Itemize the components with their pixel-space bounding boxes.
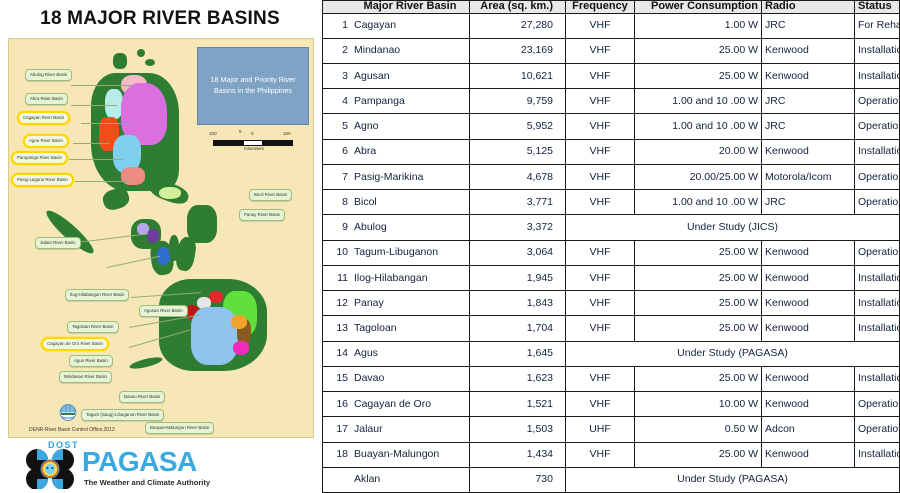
map-label-pasig-laguna[interactable]: Pasig-Laguna River Basin bbox=[11, 173, 74, 187]
leader-line bbox=[75, 181, 131, 182]
map-label-abulog[interactable]: Abulog River Basin bbox=[25, 69, 72, 81]
cell-basin-name: Cagayan de Oro bbox=[351, 392, 470, 417]
cell-frequency: VHF bbox=[566, 64, 635, 89]
table-header-row: Major River Basin Area (sq. km.) Frequen… bbox=[323, 1, 900, 14]
table-row[interactable]: 14Agus1,645Under Study (PAGASA) bbox=[323, 341, 900, 366]
river-basin-table: Major River Basin Area (sq. km.) Frequen… bbox=[322, 0, 900, 493]
cell-row-number bbox=[323, 467, 352, 492]
table-row[interactable]: 13Tagoloan1,704VHF25.00 WKenwoodInstalla… bbox=[323, 316, 900, 341]
cell-power-consumption: 1.00 and 10 .00 W bbox=[635, 190, 762, 215]
cell-area: 3,064 bbox=[470, 240, 566, 265]
cell-power-consumption: 25.00 W bbox=[635, 38, 762, 63]
cell-basin-name: Pasig-Marikina bbox=[351, 164, 470, 189]
cell-frequency: VHF bbox=[566, 38, 635, 63]
cell-basin-name: Tagoloan bbox=[351, 316, 470, 341]
cell-area: 5,952 bbox=[470, 114, 566, 139]
map-label-bicol[interactable]: Bicol River Basin bbox=[249, 189, 292, 201]
cell-radio: JRC bbox=[762, 13, 855, 38]
cell-area: 1,704 bbox=[470, 316, 566, 341]
cell-radio: Kenwood bbox=[762, 64, 855, 89]
cell-basin-name: Abra bbox=[351, 139, 470, 164]
cell-row-number: 7 bbox=[323, 164, 352, 189]
table-row[interactable]: Aklan730Under Study (PAGASA) bbox=[323, 467, 900, 492]
cell-basin-name: Bicol bbox=[351, 190, 470, 215]
cell-status: Installation on-going bbox=[855, 291, 900, 316]
table-row[interactable]: 7Pasig-Marikina4,678VHF20.00/25.00 WMoto… bbox=[323, 164, 900, 189]
cell-radio: Kenwood bbox=[762, 316, 855, 341]
cell-basin-name: Cagayan bbox=[351, 13, 470, 38]
cell-power-consumption: 25.00 W bbox=[635, 291, 762, 316]
pagasa-tagline: The Weather and Climate Authority bbox=[84, 478, 210, 487]
map-legend-text: 18 Major and Priority River Basins in th… bbox=[202, 75, 304, 97]
cell-status: Installation done bbox=[855, 139, 900, 164]
cell-frequency: VHF bbox=[566, 139, 635, 164]
cell-status: Installation done bbox=[855, 366, 900, 391]
cell-area: 1,434 bbox=[470, 442, 566, 467]
cell-status-note: Under Study (PAGASA) bbox=[566, 467, 900, 492]
cell-area: 5,125 bbox=[470, 139, 566, 164]
basin-bicol bbox=[159, 187, 181, 199]
cell-frequency: UHF bbox=[566, 417, 635, 442]
cell-area: 1,945 bbox=[470, 265, 566, 290]
cell-row-number: 6 bbox=[323, 139, 352, 164]
table-row[interactable]: 16Cagayan de Oro1,521VHF10.00 WKenwoodOp… bbox=[323, 392, 900, 417]
map-label-tagoloan[interactable]: Tagoloan River Basin bbox=[67, 321, 119, 333]
map-label-abra[interactable]: Abra River Basin bbox=[25, 93, 68, 105]
cell-radio: Motorola/Icom bbox=[762, 164, 855, 189]
cell-frequency: VHF bbox=[566, 392, 635, 417]
basin-davao bbox=[231, 315, 247, 329]
cell-area: 23,169 bbox=[470, 38, 566, 63]
table-row[interactable]: 10Tagum-Libuganon3,064VHF25.00 WKenwoodO… bbox=[323, 240, 900, 265]
cell-power-consumption: 20.00 W bbox=[635, 139, 762, 164]
island-babuyan bbox=[145, 59, 155, 66]
cell-frequency: VHF bbox=[566, 114, 635, 139]
cell-frequency: VHF bbox=[566, 13, 635, 38]
cell-radio: Kenwood bbox=[762, 442, 855, 467]
cell-basin-name: Aklan bbox=[351, 467, 470, 492]
cell-power-consumption: 20.00/25.00 W bbox=[635, 164, 762, 189]
cell-radio: Kenwood bbox=[762, 392, 855, 417]
cell-basin-name: Tagum-Libuganon bbox=[351, 240, 470, 265]
cell-area: 9,759 bbox=[470, 89, 566, 114]
scale-left-label: 100 bbox=[209, 131, 217, 136]
cell-status: Installation done bbox=[855, 316, 900, 341]
cell-row-number: 15 bbox=[323, 366, 352, 391]
map-label-agus[interactable]: Agus River Basin bbox=[69, 355, 113, 367]
leader-line bbox=[71, 85, 131, 86]
cell-power-consumption: 25.00 W bbox=[635, 240, 762, 265]
cell-row-number: 14 bbox=[323, 341, 352, 366]
cell-status: Operational bbox=[855, 417, 900, 442]
table-row[interactable]: 17Jalaur1,503UHF0.50 WAdconOperational bbox=[323, 417, 900, 442]
cell-area: 730 bbox=[470, 467, 566, 492]
column-header-radio: Radio bbox=[762, 1, 855, 14]
scale-units-label: Kilometers bbox=[205, 146, 303, 151]
cell-status-note: Under Study (JICS) bbox=[566, 215, 900, 240]
cell-frequency: VHF bbox=[566, 366, 635, 391]
cell-area: 1,503 bbox=[470, 417, 566, 442]
cell-power-consumption: 25.00 W bbox=[635, 64, 762, 89]
leader-line bbox=[73, 143, 109, 144]
island-batanes bbox=[137, 49, 145, 57]
column-header-area: Area (sq. km.) bbox=[470, 1, 566, 14]
pagasa-flower-icon bbox=[24, 449, 76, 489]
scale-bar: 100 5 0 100 Kilometers bbox=[205, 131, 303, 153]
cell-frequency: VHF bbox=[566, 316, 635, 341]
cell-row-number: 10 bbox=[323, 240, 352, 265]
cell-basin-name: Mindanao bbox=[351, 38, 470, 63]
cell-status: Operational bbox=[855, 392, 900, 417]
island-cebu-bohol bbox=[169, 235, 179, 261]
scale-zero-label: 0 bbox=[251, 131, 254, 136]
map-label-panay[interactable]: Panay River Basin bbox=[239, 209, 285, 221]
table-row[interactable]: 18Buayan-Malungon1,434VHF25.00 WKenwoodI… bbox=[323, 442, 900, 467]
table-row[interactable]: 11Ilog-Hilabangan1,945VHF25.00 WKenwoodI… bbox=[323, 265, 900, 290]
cell-area: 27,280 bbox=[470, 13, 566, 38]
cell-row-number: 9 bbox=[323, 215, 352, 240]
cell-status: Installation on-going bbox=[855, 265, 900, 290]
basin-buayan-malungon bbox=[233, 341, 249, 355]
cell-power-consumption: 25.00 W bbox=[635, 316, 762, 341]
river-basin-table-panel: Major River Basin Area (sq. km.) Frequen… bbox=[322, 0, 900, 493]
map-label-cagayan[interactable]: Cagayan River Basin bbox=[17, 111, 70, 125]
cell-area: 1,521 bbox=[470, 392, 566, 417]
cell-power-consumption: 10.00 W bbox=[635, 392, 762, 417]
cell-area: 1,645 bbox=[470, 341, 566, 366]
cell-row-number: 17 bbox=[323, 417, 352, 442]
map-legend-box: 18 Major and Priority River Basins in th… bbox=[197, 47, 309, 125]
cell-radio: Kenwood bbox=[762, 291, 855, 316]
cell-basin-name: Davao bbox=[351, 366, 470, 391]
table-row[interactable]: 3Agusan10,621VHF25.00 WKenwoodInstallati… bbox=[323, 64, 900, 89]
cell-frequency: VHF bbox=[566, 164, 635, 189]
cell-status: Installation on-going bbox=[855, 64, 900, 89]
table-row[interactable]: 9Abulog3,372Under Study (JICS) bbox=[323, 215, 900, 240]
map-label-agusan[interactable]: Agusan River Basin bbox=[139, 305, 188, 317]
cell-power-consumption: 25.00 W bbox=[635, 265, 762, 290]
leader-line bbox=[69, 159, 123, 160]
cell-radio: JRC bbox=[762, 89, 855, 114]
map-label-cagayan-de-oro[interactable]: Cagayan de Oro River Basin bbox=[41, 337, 109, 351]
leader-line bbox=[81, 123, 129, 124]
table-row[interactable]: 4Pampanga9,759VHF1.00 and 10 .00 WJRCOpe… bbox=[323, 89, 900, 114]
cell-frequency: VHF bbox=[566, 265, 635, 290]
cell-status: For Rehabilitation bbox=[855, 13, 900, 38]
table-row[interactable]: 8Bicol3,771VHF1.00 and 10 .00 WJRCOperat… bbox=[323, 190, 900, 215]
table-row[interactable]: 1Cagayan27,280VHF1.00 WJRCFor Rehabilita… bbox=[323, 13, 900, 38]
cell-radio: Kenwood bbox=[762, 265, 855, 290]
column-header-basin: Major River Basin bbox=[351, 1, 470, 14]
basin-tagoloan bbox=[209, 291, 223, 303]
cell-power-consumption: 0.50 W bbox=[635, 417, 762, 442]
cell-row-number: 5 bbox=[323, 114, 352, 139]
philippines-map: 18 Major and Priority River Basins in th… bbox=[8, 38, 314, 438]
cell-status: Operational bbox=[855, 240, 900, 265]
cell-status: Operational bbox=[855, 89, 900, 114]
cell-row-number: 3 bbox=[323, 64, 352, 89]
table-row[interactable]: 6Abra5,125VHF20.00 WKenwoodInstallation … bbox=[323, 139, 900, 164]
cell-row-number: 11 bbox=[323, 265, 352, 290]
cell-radio: Adcon bbox=[762, 417, 855, 442]
column-header-no bbox=[323, 1, 352, 14]
cell-area: 3,771 bbox=[470, 190, 566, 215]
island-luzon bbox=[113, 53, 127, 69]
cell-power-consumption: 1.00 and 10 .00 W bbox=[635, 89, 762, 114]
map-label-ilog-hilabangan[interactable]: Ilog-Hilabangan River Basin bbox=[65, 289, 129, 301]
cell-area: 10,621 bbox=[470, 64, 566, 89]
map-label-buayan-malungon[interactable]: Buayan-Malungon River Basin bbox=[145, 422, 214, 434]
cell-power-consumption: 25.00 W bbox=[635, 366, 762, 391]
cell-basin-name: Agno bbox=[351, 114, 470, 139]
table-row[interactable]: 5Agno5,952VHF1.00 and 10 .00 WJRCOperati… bbox=[323, 114, 900, 139]
cell-row-number: 13 bbox=[323, 316, 352, 341]
map-panel: 18 MAJOR RIVER BASINS bbox=[0, 0, 320, 493]
cell-radio: Kenwood bbox=[762, 366, 855, 391]
cell-basin-name: Jalaur bbox=[351, 417, 470, 442]
basin-pasig-laguna bbox=[121, 167, 145, 185]
map-label-pampanga[interactable]: Pampanga River Basin bbox=[11, 151, 68, 165]
cell-status: Installation done bbox=[855, 442, 900, 467]
cell-area: 1,843 bbox=[470, 291, 566, 316]
cell-power-consumption: 1.00 and 10 .00 W bbox=[635, 114, 762, 139]
leader-line bbox=[71, 105, 117, 106]
slide-root: 18 MAJOR RIVER BASINS bbox=[0, 0, 900, 493]
table-row[interactable]: 2Mindanao23,169VHF25.00 WKenwoodInstalla… bbox=[323, 38, 900, 63]
cell-power-consumption: 1.00 W bbox=[635, 13, 762, 38]
cell-status: Operational bbox=[855, 164, 900, 189]
cell-radio: JRC bbox=[762, 190, 855, 215]
column-header-status: Status bbox=[855, 1, 900, 14]
column-header-frequency: Frequency bbox=[566, 1, 635, 14]
cell-frequency: VHF bbox=[566, 190, 635, 215]
denr-logo-icon bbox=[55, 404, 81, 421]
cell-row-number: 2 bbox=[323, 38, 352, 63]
cell-row-number: 18 bbox=[323, 442, 352, 467]
cell-basin-name: Pampanga bbox=[351, 89, 470, 114]
map-credit: DENR-River Basin Control Office,2012 bbox=[29, 427, 115, 433]
map-label-jalaur[interactable]: Jalaur River Basin bbox=[35, 237, 81, 249]
cell-row-number: 1 bbox=[323, 13, 352, 38]
cell-status-note: Under Study (PAGASA) bbox=[566, 341, 900, 366]
cell-basin-name: Ilog-Hilabangan bbox=[351, 265, 470, 290]
table-row[interactable]: 15Davao1,623VHF25.00 WKenwoodInstallatio… bbox=[323, 366, 900, 391]
scale-right-label: 100 bbox=[283, 131, 291, 136]
cell-frequency: VHF bbox=[566, 89, 635, 114]
cell-basin-name: Agusan bbox=[351, 64, 470, 89]
pagasa-logo: DOST PAGASA The Weather and Climate Auth… bbox=[10, 440, 310, 490]
cell-basin-name: Abulog bbox=[351, 215, 470, 240]
cell-area: 3,372 bbox=[470, 215, 566, 240]
cell-area: 1,623 bbox=[470, 366, 566, 391]
cell-frequency: VHF bbox=[566, 240, 635, 265]
cell-radio: Kenwood bbox=[762, 240, 855, 265]
page-title: 18 MAJOR RIVER BASINS bbox=[0, 8, 320, 30]
cell-area: 4,678 bbox=[470, 164, 566, 189]
cell-status: Installation on-going bbox=[855, 38, 900, 63]
cell-basin-name: Agus bbox=[351, 341, 470, 366]
table-row[interactable]: 12Panay1,843VHF25.00 WKenwoodInstallatio… bbox=[323, 291, 900, 316]
cell-radio: JRC bbox=[762, 114, 855, 139]
cell-basin-name: Buayan-Malungon bbox=[351, 442, 470, 467]
cell-basin-name: Panay bbox=[351, 291, 470, 316]
table-body: 1Cagayan27,280VHF1.00 WJRCFor Rehabilita… bbox=[323, 13, 900, 492]
map-label-agno[interactable]: Agno River Basin bbox=[23, 134, 69, 148]
cell-row-number: 16 bbox=[323, 392, 352, 417]
cell-frequency: VHF bbox=[566, 291, 635, 316]
cell-row-number: 12 bbox=[323, 291, 352, 316]
cell-row-number: 4 bbox=[323, 89, 352, 114]
cell-status: Operational bbox=[855, 190, 900, 215]
column-header-power: Power Consumption bbox=[635, 1, 762, 14]
cell-row-number: 8 bbox=[323, 190, 352, 215]
map-label-tagum-libuganon[interactable]: Tagum (Saug)-Libuganon River Basin bbox=[81, 409, 164, 421]
map-label-davao[interactable]: Davao River Basin bbox=[119, 391, 165, 403]
cell-radio: Kenwood bbox=[762, 139, 855, 164]
cell-power-consumption: 25.00 W bbox=[635, 442, 762, 467]
map-label-mindanao[interactable]: Mindanao River Basin bbox=[59, 371, 112, 383]
scale-mid-tick-label: 5 bbox=[239, 129, 242, 134]
pagasa-wordmark: PAGASA bbox=[82, 448, 197, 476]
cell-frequency: VHF bbox=[566, 442, 635, 467]
cell-status: Operational bbox=[855, 114, 900, 139]
cell-radio: Kenwood bbox=[762, 38, 855, 63]
